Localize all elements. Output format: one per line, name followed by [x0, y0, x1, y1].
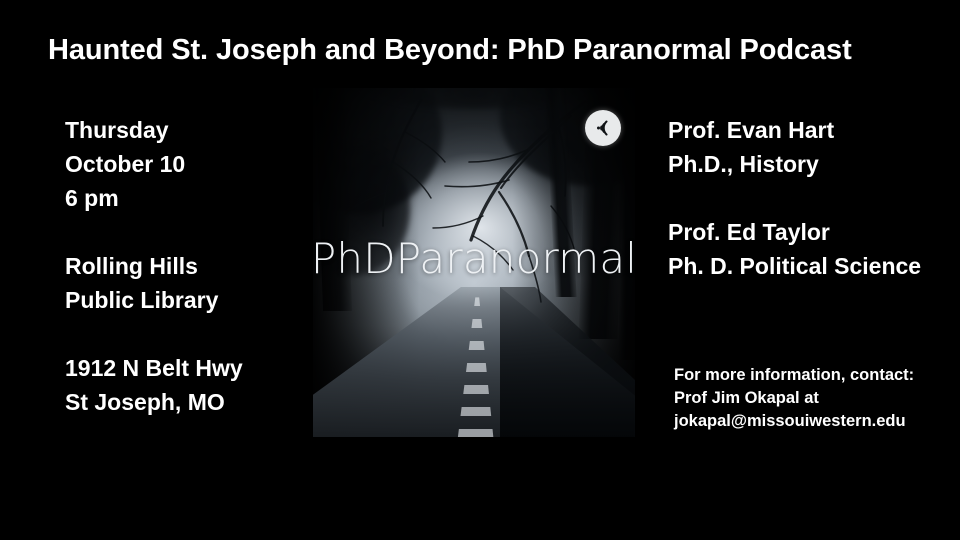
contact-intro: For more information, contact:	[674, 364, 954, 387]
event-details-column: Thursday October 10 6 pm Rolling Hills P…	[65, 113, 305, 419]
speaker-credentials: Ph. D. Political Science	[668, 249, 953, 283]
page-title: Haunted St. Joseph and Beyond: PhD Paran…	[48, 32, 928, 68]
speaker-ed-taylor: Prof. Ed Taylor Ph. D. Political Science	[668, 215, 953, 283]
event-date: October 10	[65, 147, 305, 181]
podcast-waves-icon	[585, 110, 621, 146]
event-address-block: 1912 N Belt Hwy St Joseph, MO	[65, 351, 305, 419]
address-city-state: St Joseph, MO	[65, 385, 305, 419]
speaker-credentials: Ph.D., History	[668, 147, 953, 181]
speaker-evan-hart: Prof. Evan Hart Ph.D., History	[668, 113, 953, 181]
venue-name-line2: Public Library	[65, 283, 305, 317]
speaker-name: Prof. Ed Taylor	[668, 215, 953, 249]
contact-name: Prof Jim Okapal at	[674, 387, 954, 410]
speaker-name: Prof. Evan Hart	[668, 113, 953, 147]
event-day: Thursday	[65, 113, 305, 147]
event-venue-block: Rolling Hills Public Library	[65, 249, 305, 317]
podcast-cover-art: PhDParanormal	[313, 88, 635, 437]
event-time: 6 pm	[65, 181, 305, 215]
contact-info-block: For more information, contact: Prof Jim …	[674, 364, 954, 433]
presentation-slide: Haunted St. Joseph and Beyond: PhD Paran…	[0, 0, 960, 540]
artwork-wordmark: PhDParanormal	[313, 88, 635, 437]
speakers-column: Prof. Evan Hart Ph.D., History Prof. Ed …	[668, 113, 953, 283]
address-street: 1912 N Belt Hwy	[65, 351, 305, 385]
contact-email: jokapal@missouiwestern.edu	[674, 410, 954, 433]
venue-name-line1: Rolling Hills	[65, 249, 305, 283]
event-date-time-block: Thursday October 10 6 pm	[65, 113, 305, 215]
